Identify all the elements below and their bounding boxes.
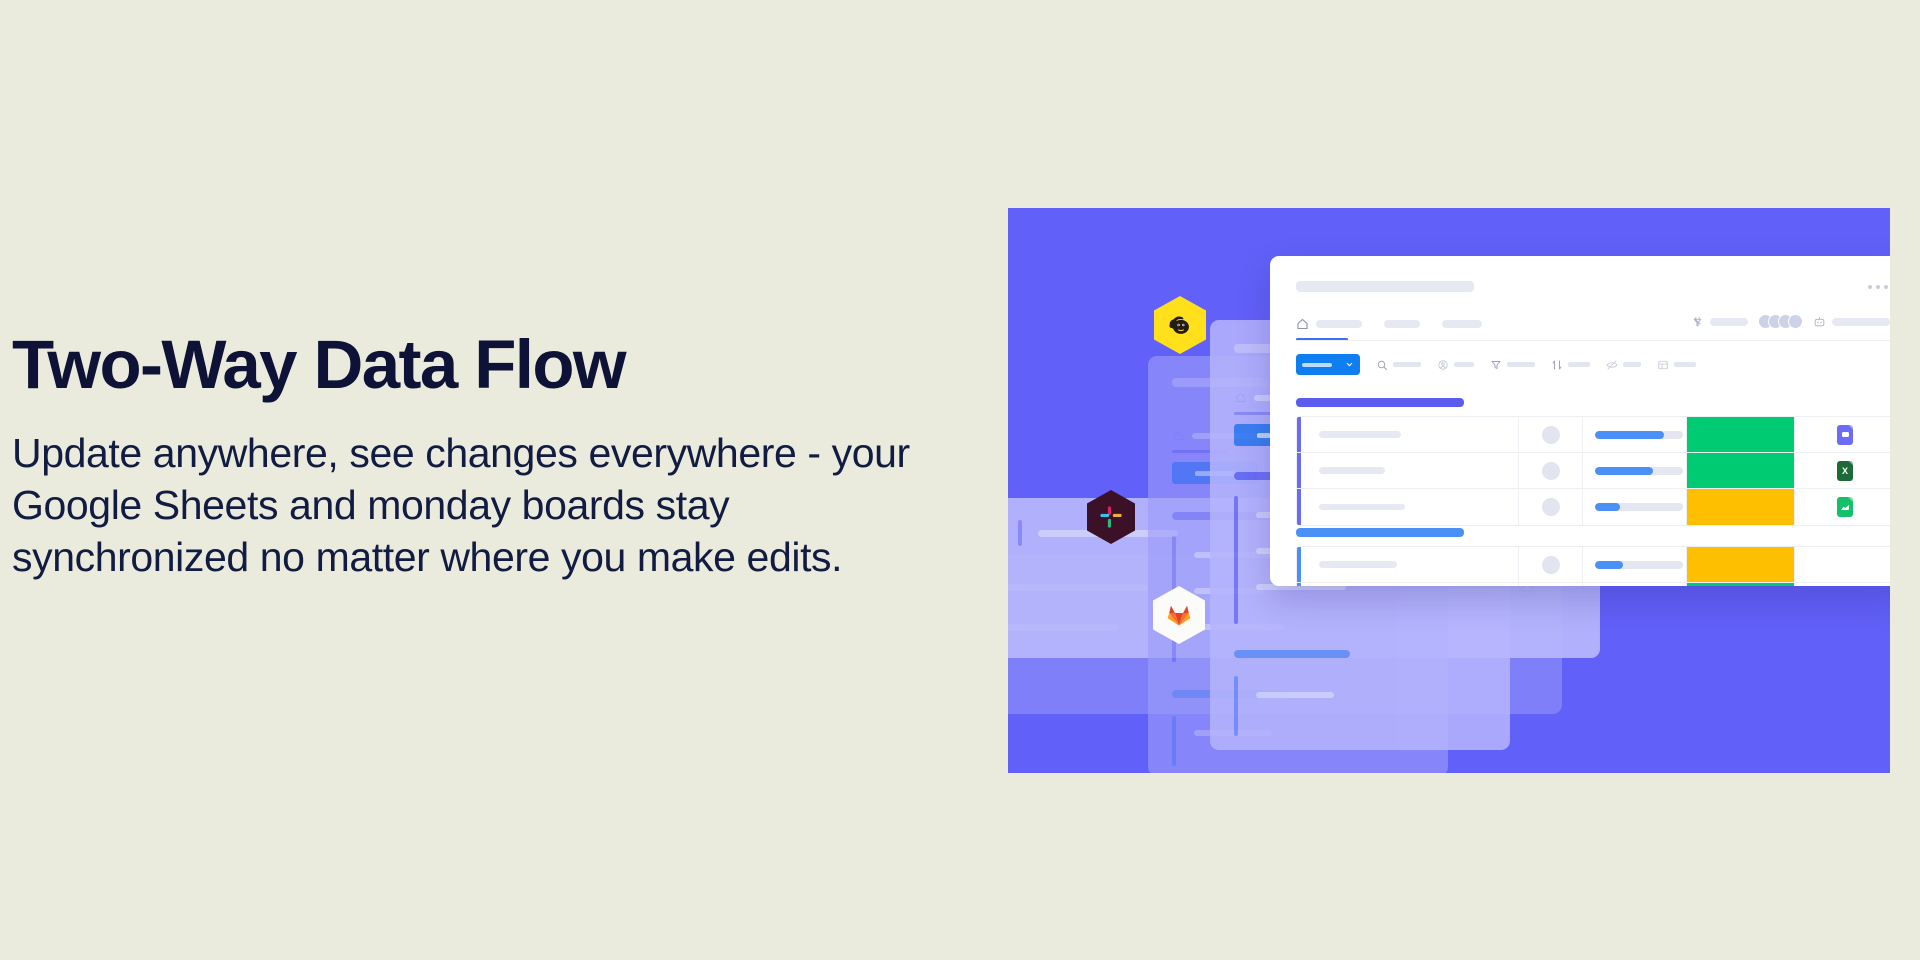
home-icon: [1234, 392, 1247, 403]
sort-button[interactable]: [1551, 359, 1590, 371]
board-toolbar: [1296, 354, 1696, 375]
slack-icon: [1099, 505, 1123, 529]
row-name-cell: [1301, 489, 1519, 525]
table-row[interactable]: [1297, 547, 1890, 583]
slack-plate: [1087, 490, 1135, 544]
row-progress-cell: [1583, 547, 1687, 582]
row-file-cell[interactable]: X: [1795, 453, 1890, 488]
hide-icon: [1606, 359, 1618, 371]
gitlab-plate: [1153, 586, 1205, 644]
row-person-cell[interactable]: [1519, 489, 1583, 525]
row-file-cell[interactable]: [1795, 417, 1890, 452]
row-progress-cell: [1583, 583, 1687, 586]
row-person-cell[interactable]: [1519, 583, 1583, 586]
row-progress-cell: [1583, 417, 1687, 452]
page-subtitle: Update anywhere, see changes everywhere …: [12, 428, 917, 583]
group-title: [1296, 528, 1464, 537]
hide-button[interactable]: [1606, 359, 1641, 371]
badge-mailchimp[interactable]: [1154, 296, 1206, 354]
person-filter-button[interactable]: [1437, 359, 1474, 371]
robot-icon: [1813, 315, 1826, 328]
home-icon: [1296, 318, 1309, 330]
board-header-tools: [1691, 314, 1890, 329]
row-person-cell[interactable]: [1519, 547, 1583, 582]
search-button[interactable]: [1376, 359, 1421, 371]
hero-banner: Two-Way Data Flow Update anywhere, see c…: [0, 0, 1920, 960]
page-title: Two-Way Data Flow: [12, 330, 942, 400]
table-row[interactable]: X: [1297, 453, 1890, 489]
excel-file-icon: X: [1837, 461, 1853, 481]
sort-icon: [1551, 359, 1563, 371]
integrate-button[interactable]: [1691, 315, 1748, 328]
table-row[interactable]: X: [1297, 583, 1890, 586]
row-status-cell[interactable]: [1687, 417, 1795, 452]
monday-doc-file-icon: [1837, 425, 1853, 445]
badge-slack[interactable]: [1087, 490, 1135, 544]
row-file-cell[interactable]: X: [1795, 583, 1890, 586]
board-group-1: X: [1296, 398, 1890, 526]
avatar: [1788, 314, 1803, 329]
gitlab-icon: [1166, 602, 1192, 628]
table-icon: [1657, 359, 1669, 371]
row-file-cell[interactable]: [1795, 489, 1890, 525]
row-status-cell[interactable]: [1687, 547, 1795, 582]
row-person-cell[interactable]: [1519, 417, 1583, 452]
row-name-cell: [1301, 547, 1519, 582]
table-row[interactable]: [1297, 489, 1890, 525]
monday-board-panel: X: [1270, 256, 1890, 586]
row-file-cell[interactable]: [1795, 547, 1890, 582]
group-rows: X: [1296, 546, 1890, 586]
illustration-canvas: X X: [1008, 208, 1890, 773]
row-status-cell[interactable]: [1687, 583, 1795, 586]
avatar-group[interactable]: [1758, 314, 1803, 329]
table-view-button[interactable]: [1657, 359, 1696, 371]
automate-button[interactable]: [1813, 315, 1890, 328]
integrate-icon: [1691, 315, 1704, 328]
hero-copy: Two-Way Data Flow Update anywhere, see c…: [12, 330, 942, 583]
new-item-button[interactable]: [1296, 354, 1360, 375]
row-status-cell[interactable]: [1687, 489, 1795, 525]
row-person-cell[interactable]: [1519, 453, 1583, 488]
row-name-cell: [1301, 417, 1519, 452]
filter-button[interactable]: [1490, 359, 1535, 371]
group-title: [1296, 398, 1464, 407]
row-name-cell: [1301, 583, 1519, 586]
group-rows: X: [1296, 416, 1890, 526]
board-group-2: X: [1296, 528, 1890, 586]
row-status-cell[interactable]: [1687, 453, 1795, 488]
tabs-divider: [1296, 340, 1890, 341]
tab-main-table[interactable]: [1296, 318, 1362, 330]
tab-second[interactable]: [1384, 320, 1420, 328]
person-icon: [1437, 359, 1449, 371]
chevron-down-icon: [1345, 360, 1354, 369]
home-icon: [1172, 430, 1185, 441]
mailchimp-icon: [1165, 310, 1195, 340]
badge-gitlab[interactable]: [1153, 586, 1205, 644]
board-title-placeholder: [1296, 281, 1474, 292]
search-icon: [1376, 359, 1388, 371]
row-name-cell: [1301, 453, 1519, 488]
table-row[interactable]: [1297, 417, 1890, 453]
row-progress-cell: [1583, 489, 1687, 525]
google-sheets-file-icon: [1837, 497, 1853, 517]
row-progress-cell: [1583, 453, 1687, 488]
board-tabs: [1296, 318, 1482, 330]
tab-third[interactable]: [1442, 320, 1482, 328]
mailchimp-plate: [1154, 296, 1206, 354]
board-more-menu[interactable]: [1868, 285, 1888, 289]
filter-icon: [1490, 359, 1502, 371]
